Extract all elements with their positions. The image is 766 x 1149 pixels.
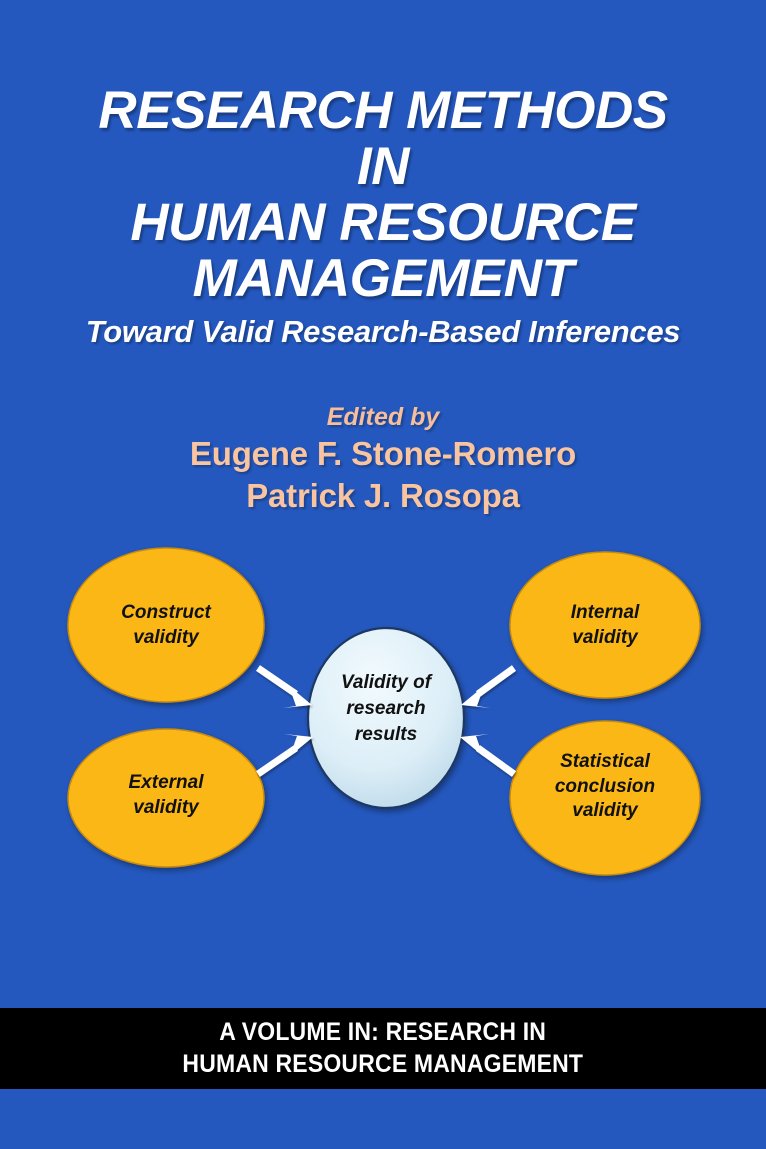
book-subtitle: Toward Valid Research-Based Inferences [0, 314, 766, 350]
arrow-statistical-to-center [460, 734, 514, 774]
series-banner-line-2: HUMAN RESOURCE MANAGEMENT [183, 1049, 584, 1080]
series-banner-line-1: A VOLUME IN: RESEARCH IN [220, 1017, 547, 1048]
book-cover: RESEARCH METHODS IN HUMAN RESOURCE MANAG… [0, 0, 766, 1149]
node-center-validity-of-research-results [308, 628, 464, 808]
editor-name-1: Eugene F. Stone-Romero [0, 435, 766, 474]
arrow-internal-to-center [461, 668, 514, 708]
validity-concept-diagram: Construct validity Internal validity Ext… [0, 528, 766, 908]
diagram-canvas [0, 528, 766, 908]
arrow-external-to-center [258, 734, 313, 774]
edited-by-label: Edited by [0, 403, 766, 432]
editors-block: Edited by Eugene F. Stone-Romero Patrick… [0, 403, 766, 516]
node-internal-validity [510, 552, 700, 698]
node-external-validity [68, 729, 264, 867]
title-line-1: RESEARCH METHODS [0, 84, 766, 138]
node-statistical-conclusion-validity [510, 721, 700, 875]
title-block: RESEARCH METHODS IN HUMAN RESOURCE MANAG… [0, 84, 766, 350]
title-line-3: HUMAN RESOURCE [0, 196, 766, 250]
series-banner: A VOLUME IN: RESEARCH IN HUMAN RESOURCE … [0, 1008, 766, 1089]
node-construct-validity [68, 548, 264, 702]
title-line-4: MANAGEMENT [0, 252, 766, 306]
arrow-construct-to-center [258, 668, 312, 708]
editor-name-2: Patrick J. Rosopa [0, 477, 766, 516]
title-line-2: IN [0, 140, 766, 194]
